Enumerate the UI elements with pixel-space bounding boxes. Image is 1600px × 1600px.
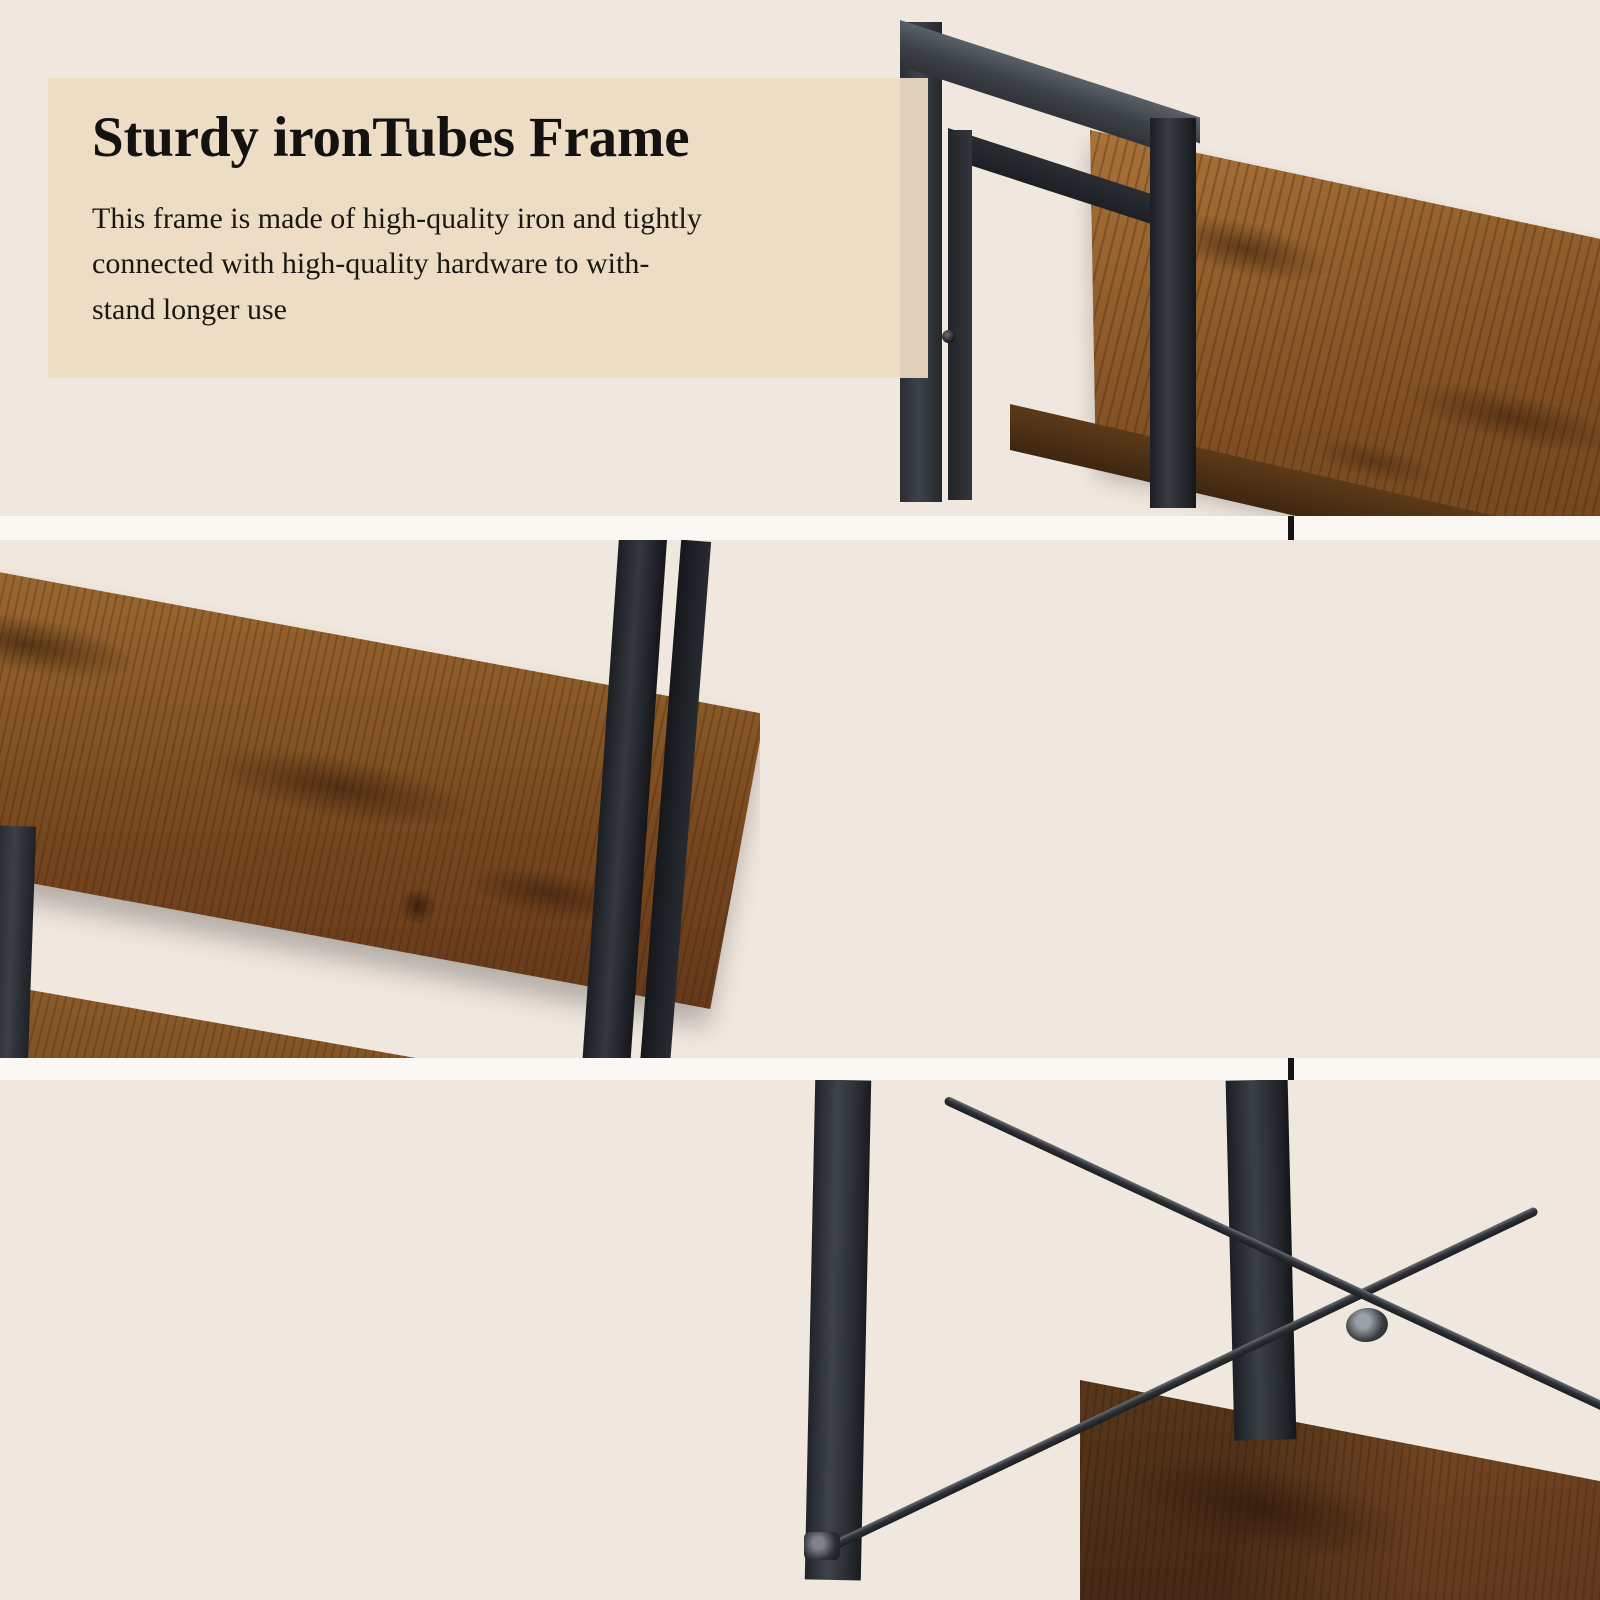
panel-1-body-line-3: stand longer use (92, 293, 287, 326)
panel-1-body-line-1: This frame is made of high-quality iron … (92, 202, 702, 235)
wood-shelf-lower (0, 960, 608, 1058)
frame-front-post (1150, 118, 1196, 508)
panel-1-body-line-2: connected with high-quality hardware to … (92, 247, 649, 280)
frame-post-left (805, 1080, 871, 1581)
rod-mount-bracket (804, 1532, 840, 1560)
feature-panel-classic-easy-to-clean: Classic & Easy to Clean This shelf is ma… (0, 540, 1600, 1058)
panel-separator-1 (0, 516, 1600, 540)
feature-panel-sturdy-iron-tubes-frame: Sturdy ironTubes Frame This frame is mad… (0, 0, 1600, 516)
screw-icon (942, 330, 955, 343)
feature-card-1: Sturdy ironTubes Frame This frame is mad… (48, 78, 928, 378)
cross-brace-joint (1344, 1306, 1389, 1344)
product-photo-anti-tip-brace (780, 1080, 1600, 1600)
frame-inner-post (948, 130, 972, 500)
separator-tick-mark (1288, 516, 1294, 540)
wood-shelf-surface (1080, 1380, 1600, 1600)
product-photo-iron-frame (860, 0, 1600, 516)
feature-panel-anti-tip-kit: Anti-Tip Kit The anti-tip kit is easy to… (0, 1080, 1600, 1600)
separator-tick-mark (1288, 1058, 1294, 1082)
product-photo-shelf-boards (0, 540, 760, 1058)
infographic-canvas: Sturdy ironTubes Frame This frame is mad… (0, 0, 1600, 1600)
panel-1-headline: Sturdy ironTubes Frame (92, 106, 884, 170)
panel-separator-2 (0, 1058, 1600, 1082)
panel-1-body: This frame is made of high-quality iron … (92, 196, 882, 333)
